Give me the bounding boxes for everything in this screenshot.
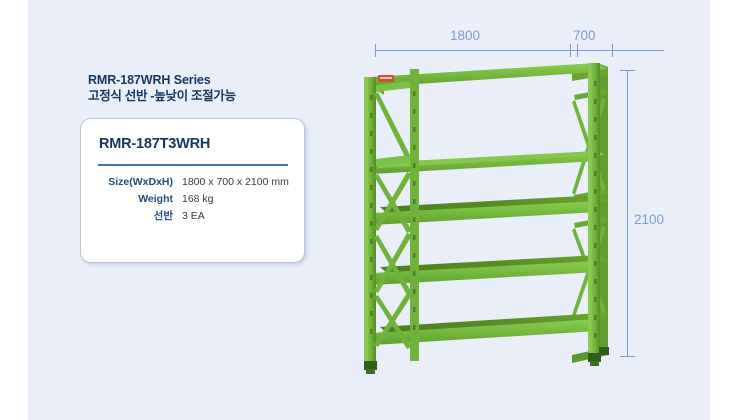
spec-label-size: Size(WxDxH) [85, 174, 182, 191]
spec-row-weight: Weight 168 kg [85, 191, 302, 208]
model-name: RMR-187T3WRH [99, 136, 210, 152]
rack-front-left-post [364, 77, 376, 367]
dimension-label-depth: 700 [573, 28, 596, 43]
spec-row-size: Size(WxDxH) 1800 x 700 x 2100 mm [85, 174, 302, 191]
spec-table-body: Size(WxDxH) 1800 x 700 x 2100 mm Weight … [85, 174, 302, 225]
card-divider [98, 164, 288, 166]
spec-label-shelf: 선반 [85, 208, 182, 225]
dimension-extension-top-right [612, 50, 664, 51]
brand-sticker-icon [378, 75, 394, 82]
dimension-tick-height-bottom [620, 356, 635, 357]
spec-value-size: 1800 x 700 x 2100 mm [182, 174, 302, 191]
product-spec-page: RMR-187WRH Series 고정식 선반 -높낮이 조절가능 RMR-1… [0, 0, 730, 420]
dimension-tick-height-top [620, 70, 635, 71]
spec-label-weight: Weight [85, 191, 182, 208]
series-title: RMR-187WRH Series [88, 72, 318, 88]
spec-value-shelf: 3 EA [182, 208, 302, 225]
rack-shelf-decks [372, 63, 608, 345]
rack-front-right-post [588, 63, 600, 355]
dimension-label-height: 2100 [634, 212, 664, 227]
dimension-label-width: 1800 [450, 28, 480, 43]
spec-table: Size(WxDxH) 1800 x 700 x 2100 mm Weight … [85, 174, 302, 225]
spec-row-shelf: 선반 3 EA [85, 208, 302, 225]
product-info-block: RMR-187WRH Series 고정식 선반 -높낮이 조절가능 [88, 72, 318, 105]
spec-card: RMR-187T3WRH Size(WxDxH) 1800 x 700 x 21… [80, 118, 305, 263]
dimension-line-height [627, 70, 628, 356]
rack-interior-post [410, 69, 419, 361]
spec-value-weight: 168 kg [182, 191, 302, 208]
series-subtitle: 고정식 선반 -높낮이 조절가능 [88, 88, 318, 105]
shelving-rack-illustration [350, 55, 620, 385]
